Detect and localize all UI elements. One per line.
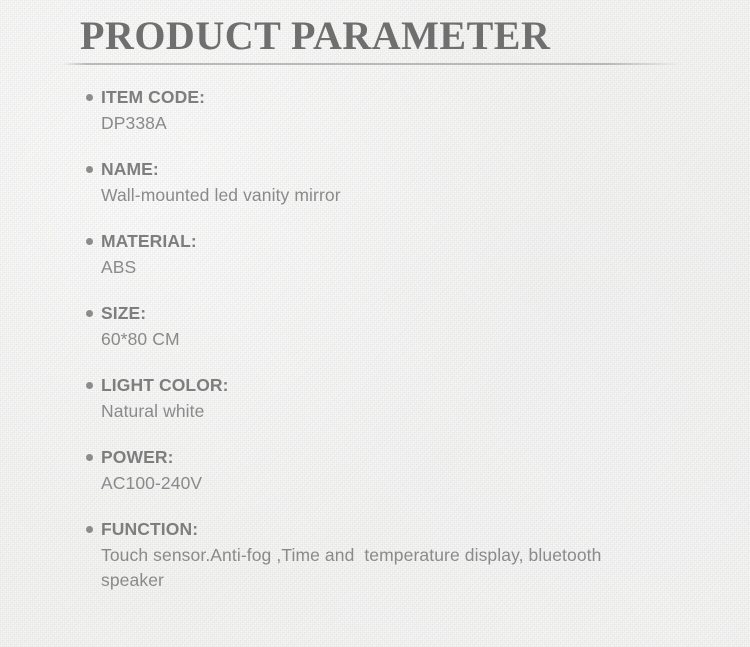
- spec-label: ITEM CODE:: [101, 86, 750, 108]
- spec-list: ITEM CODE: DP338A NAME: Wall-mounted led…: [0, 86, 750, 590]
- bullet-dot-icon: [86, 526, 93, 533]
- list-item: FUNCTION: Touch sensor.Anti-fog ,Time an…: [0, 518, 750, 590]
- spec-value: DP338A: [101, 111, 631, 136]
- list-item: SIZE: 60*80 CM: [0, 302, 750, 374]
- list-item: POWER: AC100-240V: [0, 446, 750, 518]
- spec-label: FUNCTION:: [101, 518, 750, 540]
- spec-value: Wall-mounted led vanity mirror: [101, 183, 631, 208]
- spec-label: POWER:: [101, 446, 750, 468]
- spec-label: LIGHT COLOR:: [101, 374, 750, 396]
- spec-label: SIZE:: [101, 302, 750, 324]
- bullet-dot-icon: [86, 94, 93, 101]
- spec-value: Touch sensor.Anti-fog ,Time and temperat…: [101, 543, 631, 593]
- product-parameter-page: PRODUCT PARAMETER ITEM CODE: DP338A NAME…: [0, 0, 750, 647]
- title-divider: [62, 63, 682, 65]
- page-title: PRODUCT PARAMETER: [80, 12, 550, 60]
- list-item: LIGHT COLOR: Natural white: [0, 374, 750, 446]
- spec-label: NAME:: [101, 158, 750, 180]
- list-item: MATERIAL: ABS: [0, 230, 750, 302]
- spec-value: ABS: [101, 255, 631, 280]
- spec-value: 60*80 CM: [101, 327, 631, 352]
- bullet-dot-icon: [86, 382, 93, 389]
- bullet-dot-icon: [86, 454, 93, 461]
- bullet-dot-icon: [86, 310, 93, 317]
- spec-label: MATERIAL:: [101, 230, 750, 252]
- bullet-dot-icon: [86, 166, 93, 173]
- list-item: ITEM CODE: DP338A: [0, 86, 750, 158]
- spec-value: AC100-240V: [101, 471, 631, 496]
- spec-value: Natural white: [101, 399, 631, 424]
- list-item: NAME: Wall-mounted led vanity mirror: [0, 158, 750, 230]
- bullet-dot-icon: [86, 238, 93, 245]
